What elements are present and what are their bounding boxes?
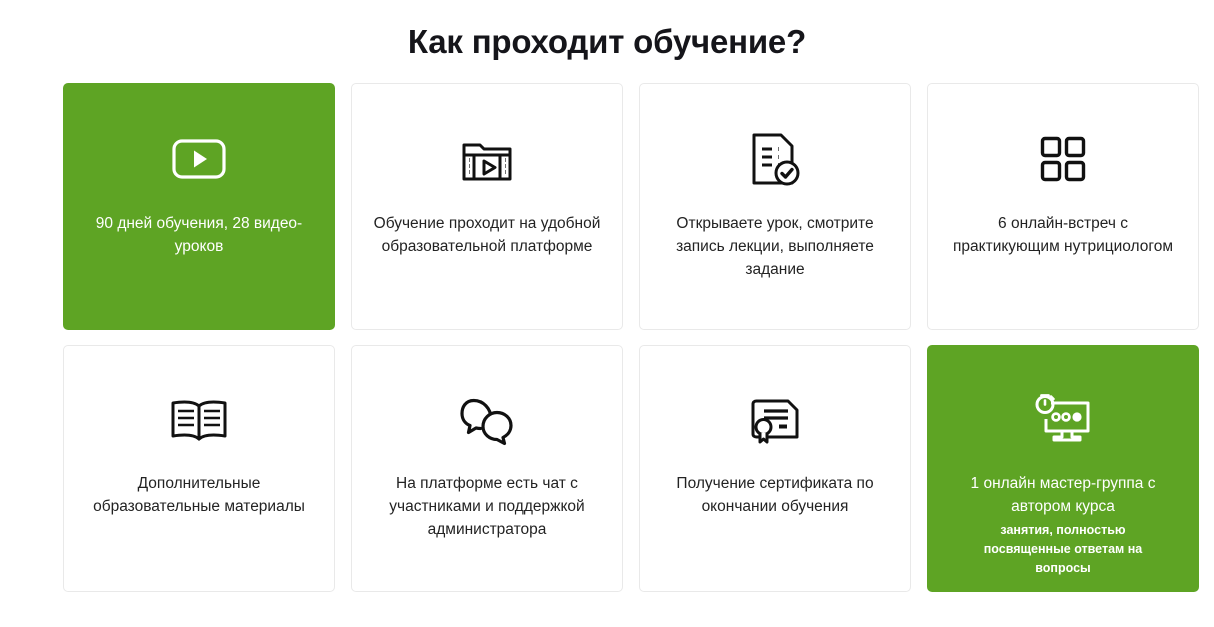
feature-card-online-meetings[interactable]: 6 онлайн-встреч с практикующим нутрициол… [927,83,1199,330]
play-button-icon [171,128,227,190]
grid-four-squares-icon [1040,128,1086,190]
feature-card-video-lessons[interactable]: 90 дней обучения, 28 видео-уроков [63,83,335,330]
page-title: Как проходит обучение? [0,0,1214,62]
feature-card-lesson-flow[interactable]: Открываете урок, смотрите запись лекции,… [639,83,911,330]
feature-card-text: Открываете урок, смотрите запись лекции,… [660,212,890,281]
certificate-seal-icon [748,390,802,452]
feature-card-text: На платформе есть чат с участниками и по… [372,472,602,541]
chat-bubbles-icon [459,390,515,452]
video-folder-icon [460,128,514,190]
feature-card-text: Дополнительные образовательные материалы [84,472,314,518]
feature-card-text: 90 дней обучения, 28 видео-уроков [84,212,314,258]
feature-card-chat-support[interactable]: На платформе есть чат с участниками и по… [351,345,623,592]
feature-cards-grid: 90 дней обучения, 28 видео-уроков Обучен… [0,62,1214,592]
document-check-icon [750,128,800,190]
how-training-works-section: Как проходит обучение? 90 дней обучения,… [0,0,1214,627]
feature-card-extra-materials[interactable]: Дополнительные образовательные материалы [63,345,335,592]
open-book-icon [169,390,229,452]
feature-card-text: 1 онлайн мастер-группа с автором курса [948,472,1178,518]
feature-card-text: Обучение проходит на удобной образовател… [372,212,602,258]
webinar-screen-timer-icon [1032,390,1094,452]
feature-card-text: 6 онлайн-встреч с практикующим нутрициол… [948,212,1178,258]
feature-card-master-group[interactable]: 1 онлайн мастер-группа с автором курса з… [927,345,1199,592]
feature-card-subtext: занятия, полностью посвященные ответам н… [956,521,1171,578]
feature-card-platform[interactable]: Обучение проходит на удобной образовател… [351,83,623,330]
feature-card-certificate[interactable]: Получение сертификата по окончании обуче… [639,345,911,592]
feature-card-text: Получение сертификата по окончании обуче… [660,472,890,518]
